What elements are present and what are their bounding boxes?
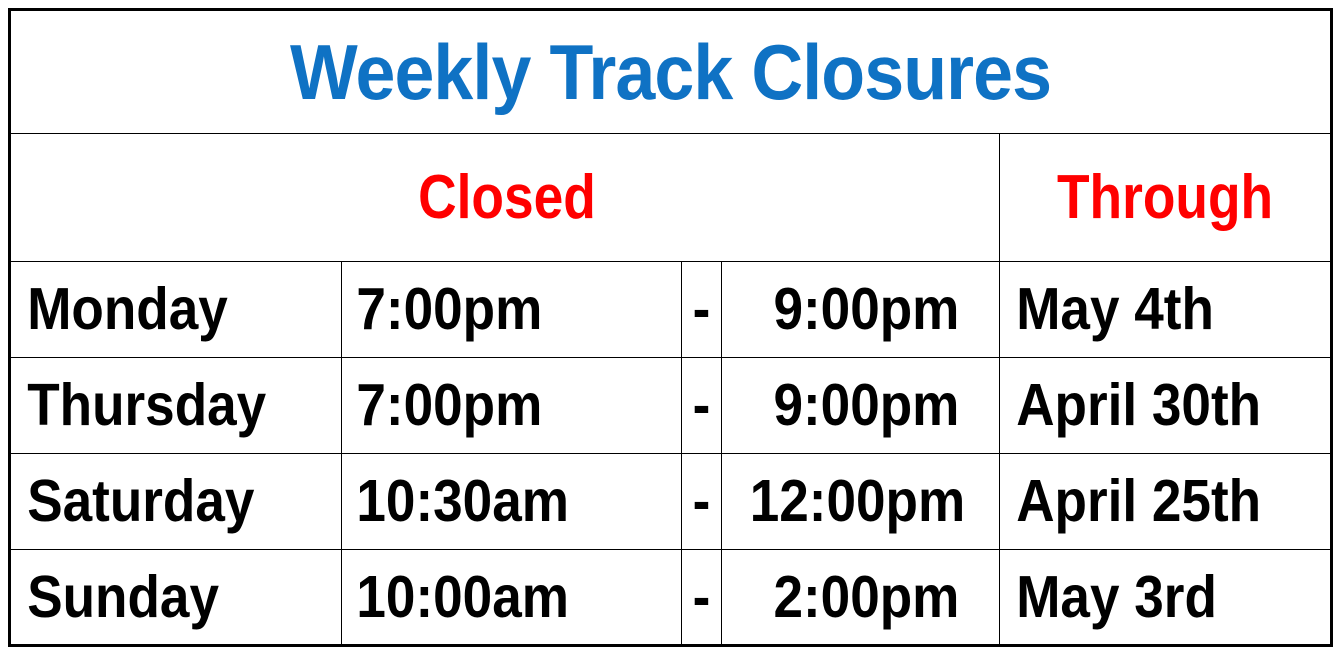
row-time-separator-cell: - (682, 454, 722, 550)
table-row: Sunday 10:00am - 2:00pm May 3rd (10, 550, 1332, 646)
closed-header-cell: Closed (10, 134, 1000, 262)
row-time-separator-cell: - (682, 262, 722, 358)
through-date-label: May 4th (1000, 280, 1297, 339)
end-time-label: 12:00pm (750, 472, 999, 531)
row-day-cell: Sunday (10, 550, 342, 646)
row-end-time-cell: 2:00pm (722, 550, 1000, 646)
row-time-separator-cell: - (682, 358, 722, 454)
weekly-track-closures-sign: Weekly Track Closures Closed Through Mon… (0, 0, 1338, 652)
page-title: Weekly Track Closures (64, 33, 1278, 111)
through-date-label: May 3rd (1000, 568, 1297, 627)
closed-header-label: Closed (82, 167, 932, 229)
through-date-label: April 25th (1000, 472, 1297, 531)
day-label: Thursday (11, 376, 308, 435)
end-time-label: 9:00pm (750, 280, 999, 339)
row-end-time-cell: 9:00pm (722, 262, 1000, 358)
row-start-time-cell: 10:00am (342, 550, 682, 646)
sign-title-cell: Weekly Track Closures (10, 10, 1332, 134)
row-day-cell: Thursday (10, 358, 342, 454)
start-time-label: 7:00pm (342, 280, 647, 339)
day-label: Sunday (11, 568, 308, 627)
row-through-cell: April 30th (1000, 358, 1332, 454)
row-day-cell: Saturday (10, 454, 342, 550)
row-start-time-cell: 7:00pm (342, 262, 682, 358)
start-time-label: 10:00am (342, 568, 647, 627)
table-row: Monday 7:00pm - 9:00pm May 4th (10, 262, 1332, 358)
table-row: Thursday 7:00pm - 9:00pm April 30th (10, 358, 1332, 454)
row-day-cell: Monday (10, 262, 342, 358)
row-start-time-cell: 10:30am (342, 454, 682, 550)
row-through-cell: May 4th (1000, 262, 1332, 358)
row-start-time-cell: 7:00pm (342, 358, 682, 454)
row-through-cell: April 25th (1000, 454, 1332, 550)
row-end-time-cell: 9:00pm (722, 358, 1000, 454)
end-time-label: 9:00pm (750, 376, 999, 435)
through-header-cell: Through (1000, 134, 1332, 262)
table-row: Saturday 10:30am - 12:00pm April 25th (10, 454, 1332, 550)
time-separator-label: - (684, 280, 719, 339)
time-separator-label: - (684, 376, 719, 435)
row-through-cell: May 3rd (1000, 550, 1332, 646)
start-time-label: 7:00pm (342, 376, 647, 435)
through-date-label: April 30th (1000, 376, 1297, 435)
day-label: Saturday (11, 472, 308, 531)
end-time-label: 2:00pm (750, 568, 999, 627)
closure-schedule-table: Weekly Track Closures Closed Through Mon… (8, 8, 1333, 647)
row-end-time-cell: 12:00pm (722, 454, 1000, 550)
row-time-separator-cell: - (682, 550, 722, 646)
title-row: Weekly Track Closures (10, 10, 1332, 134)
day-label: Monday (11, 280, 308, 339)
start-time-label: 10:30am (342, 472, 647, 531)
time-separator-label: - (684, 568, 719, 627)
column-header-row: Closed Through (10, 134, 1332, 262)
time-separator-label: - (684, 472, 719, 531)
through-header-label: Through (1023, 167, 1307, 229)
